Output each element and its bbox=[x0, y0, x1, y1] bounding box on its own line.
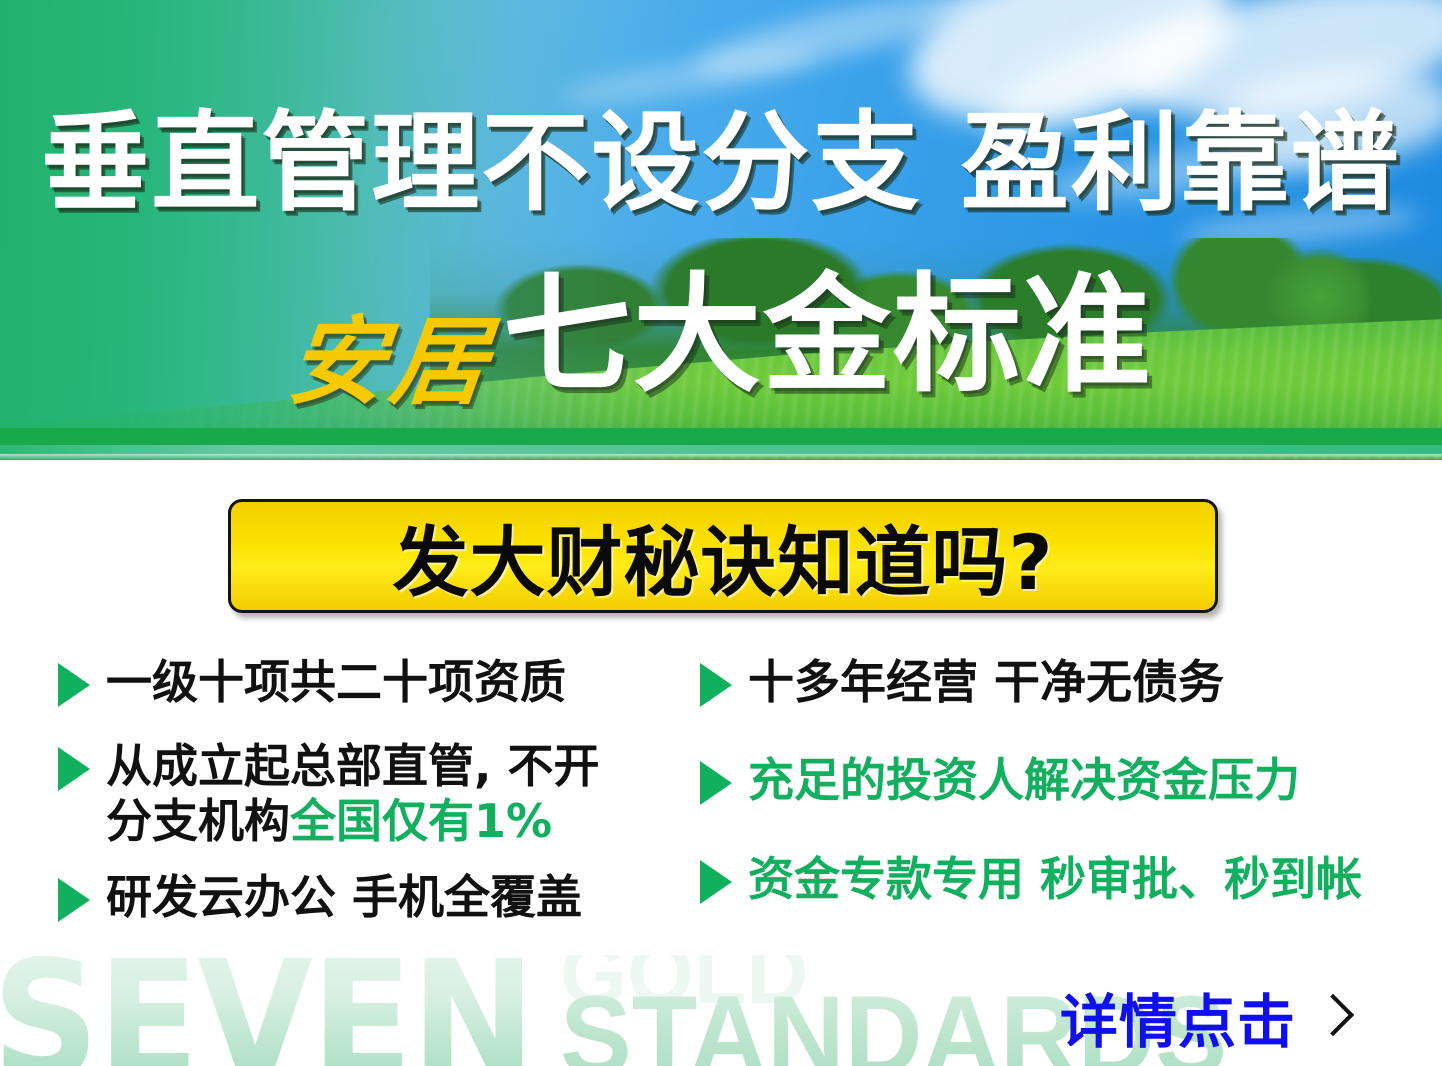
feature-item-label: 研发云办公 手机全覆盖 bbox=[106, 870, 582, 924]
play-triangle-icon bbox=[700, 761, 732, 805]
feature-column-right: 十多年经营 干净无债务 充足的投资人解决资金压力 资金专款专用 秒审批、秒到帐 bbox=[700, 655, 1420, 950]
feature-item: 资金专款专用 秒审批、秒到帐 bbox=[700, 852, 1420, 906]
details-link[interactable]: 详情点击 bbox=[1060, 975, 1348, 1059]
hero-headline-secondary: 安居七大金标准 bbox=[0, 272, 1442, 400]
watermark-seven-text: SEVEN bbox=[0, 955, 534, 1066]
hero-bottom-green-strip bbox=[0, 428, 1442, 445]
cta-banner[interactable]: 发大财秘诀知道吗? bbox=[228, 499, 1218, 613]
play-triangle-icon bbox=[700, 663, 732, 707]
feature-item: 一级十项共二十项资质 bbox=[58, 655, 698, 709]
hero-headline-primary: 垂直管理不设分支 盈利靠谱 bbox=[0, 110, 1442, 218]
feature-item-line2: 分支机构 bbox=[106, 794, 290, 848]
cta-banner-text: 发大财秘诀知道吗? bbox=[392, 501, 1053, 611]
feature-item: 十多年经营 干净无债务 bbox=[700, 655, 1420, 709]
hero-section: 垂直管理不设分支 盈利靠谱 安居七大金标准 bbox=[0, 0, 1442, 460]
feature-item-highlight: 全国仅有1% bbox=[290, 794, 552, 848]
hero-headline-main-text: 七大金标准 bbox=[503, 272, 1153, 400]
feature-item: 充足的投资人解决资金压力 bbox=[700, 753, 1420, 807]
feature-item: 从成立起总部直管, 不开分支机构全国仅有1% bbox=[58, 739, 698, 848]
details-link-label: 详情点击 bbox=[1060, 975, 1296, 1059]
feature-item-label: 资金专款专用 秒审批、秒到帐 bbox=[748, 852, 1362, 906]
hero-bottom-fade bbox=[0, 454, 1442, 460]
feature-column-left: 一级十项共二十项资质 从成立起总部直管, 不开分支机构全国仅有1% 研发云办公 … bbox=[58, 655, 698, 950]
feature-item-label: 充足的投资人解决资金压力 bbox=[748, 753, 1300, 807]
play-triangle-icon bbox=[58, 878, 90, 922]
watermark-gold-text: GOLD bbox=[560, 955, 808, 1024]
feature-item-line1: 从成立起总部直管, 不开 bbox=[106, 739, 600, 793]
feature-item-label: 从成立起总部直管, 不开分支机构全国仅有1% bbox=[106, 739, 600, 848]
play-triangle-icon bbox=[58, 663, 90, 707]
feature-item: 研发云办公 手机全覆盖 bbox=[58, 870, 698, 924]
advertisement-banner: 垂直管理不设分支 盈利靠谱 安居七大金标准 发大财秘诀知道吗? SEVEN GO… bbox=[0, 0, 1442, 1066]
chevron-right-icon bbox=[1312, 994, 1354, 1036]
feature-list-section: 一级十项共二十项资质 从成立起总部直管, 不开分支机构全国仅有1% 研发云办公 … bbox=[0, 655, 1442, 955]
brand-name-text: 安居 bbox=[284, 314, 498, 410]
feature-item-label: 十多年经营 干净无债务 bbox=[748, 655, 1224, 709]
feature-item-label: 一级十项共二十项资质 bbox=[106, 655, 566, 709]
play-triangle-icon bbox=[700, 860, 732, 904]
play-triangle-icon bbox=[58, 747, 90, 791]
